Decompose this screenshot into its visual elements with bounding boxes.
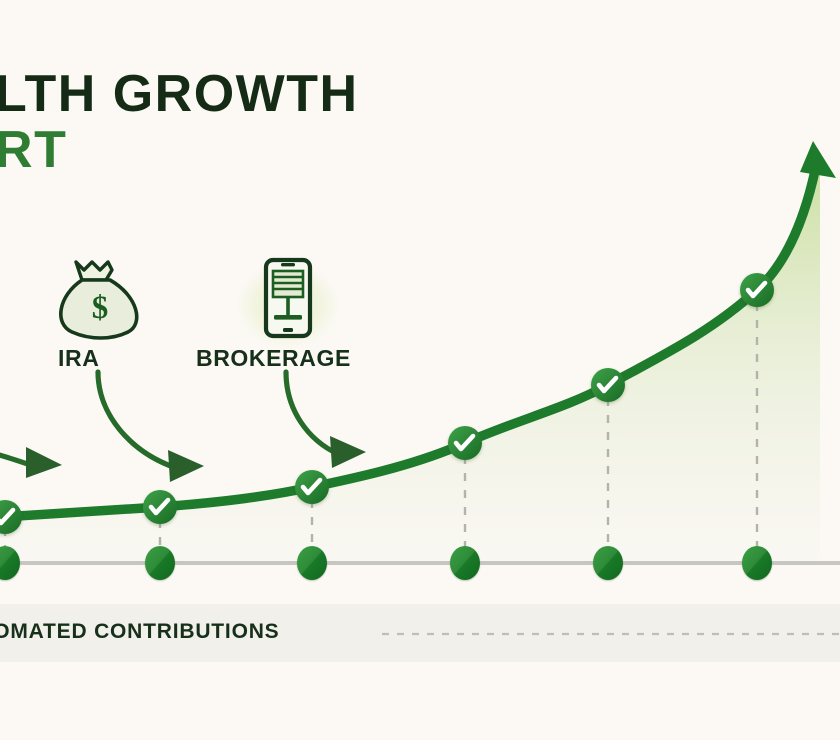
- area-fill: [0, 160, 820, 563]
- arrowhead-icon: [168, 450, 204, 482]
- baseline-dot: [742, 546, 772, 580]
- annotation-arrow-ira: [98, 372, 204, 482]
- annotation-arrow-brokerage: [286, 372, 366, 468]
- checkpoint-marker[interactable]: [295, 470, 329, 504]
- checkpoint-marker[interactable]: [143, 490, 177, 524]
- svg-text:$: $: [92, 290, 109, 326]
- curve-end-arrow-icon: [800, 141, 836, 178]
- footer-label: UTOMATED CONTRIBUTIONS: [0, 620, 279, 644]
- checkpoint-marker[interactable]: [591, 368, 625, 402]
- mobile-chart-icon: [266, 260, 310, 336]
- arrowhead-icon: [26, 447, 62, 478]
- arrowhead-icon: [330, 436, 366, 468]
- money-bag-icon: $: [61, 262, 137, 338]
- baseline-dot: [593, 546, 623, 580]
- page-title: ALTH GROWTH ART: [0, 68, 359, 176]
- checkpoint-marker[interactable]: [448, 426, 482, 460]
- annotation-arrow-left: [0, 447, 62, 478]
- annotation-arrows-group: [0, 372, 366, 482]
- title-line-accent: ART: [0, 124, 359, 176]
- baseline-dot: [450, 546, 480, 580]
- icon-label-ira: IRA: [58, 345, 99, 372]
- checkpoint-marker[interactable]: [740, 273, 774, 307]
- wealth-growth-chart-infographic: $ ALTH GROWTH ART IRA BROKERAGE UTOMATED…: [0, 0, 840, 740]
- baseline-dot: [297, 546, 327, 580]
- icon-label-brokerage: BROKERAGE: [196, 345, 351, 372]
- baseline-dot: [145, 546, 175, 580]
- title-line-primary: ALTH GROWTH: [0, 68, 359, 120]
